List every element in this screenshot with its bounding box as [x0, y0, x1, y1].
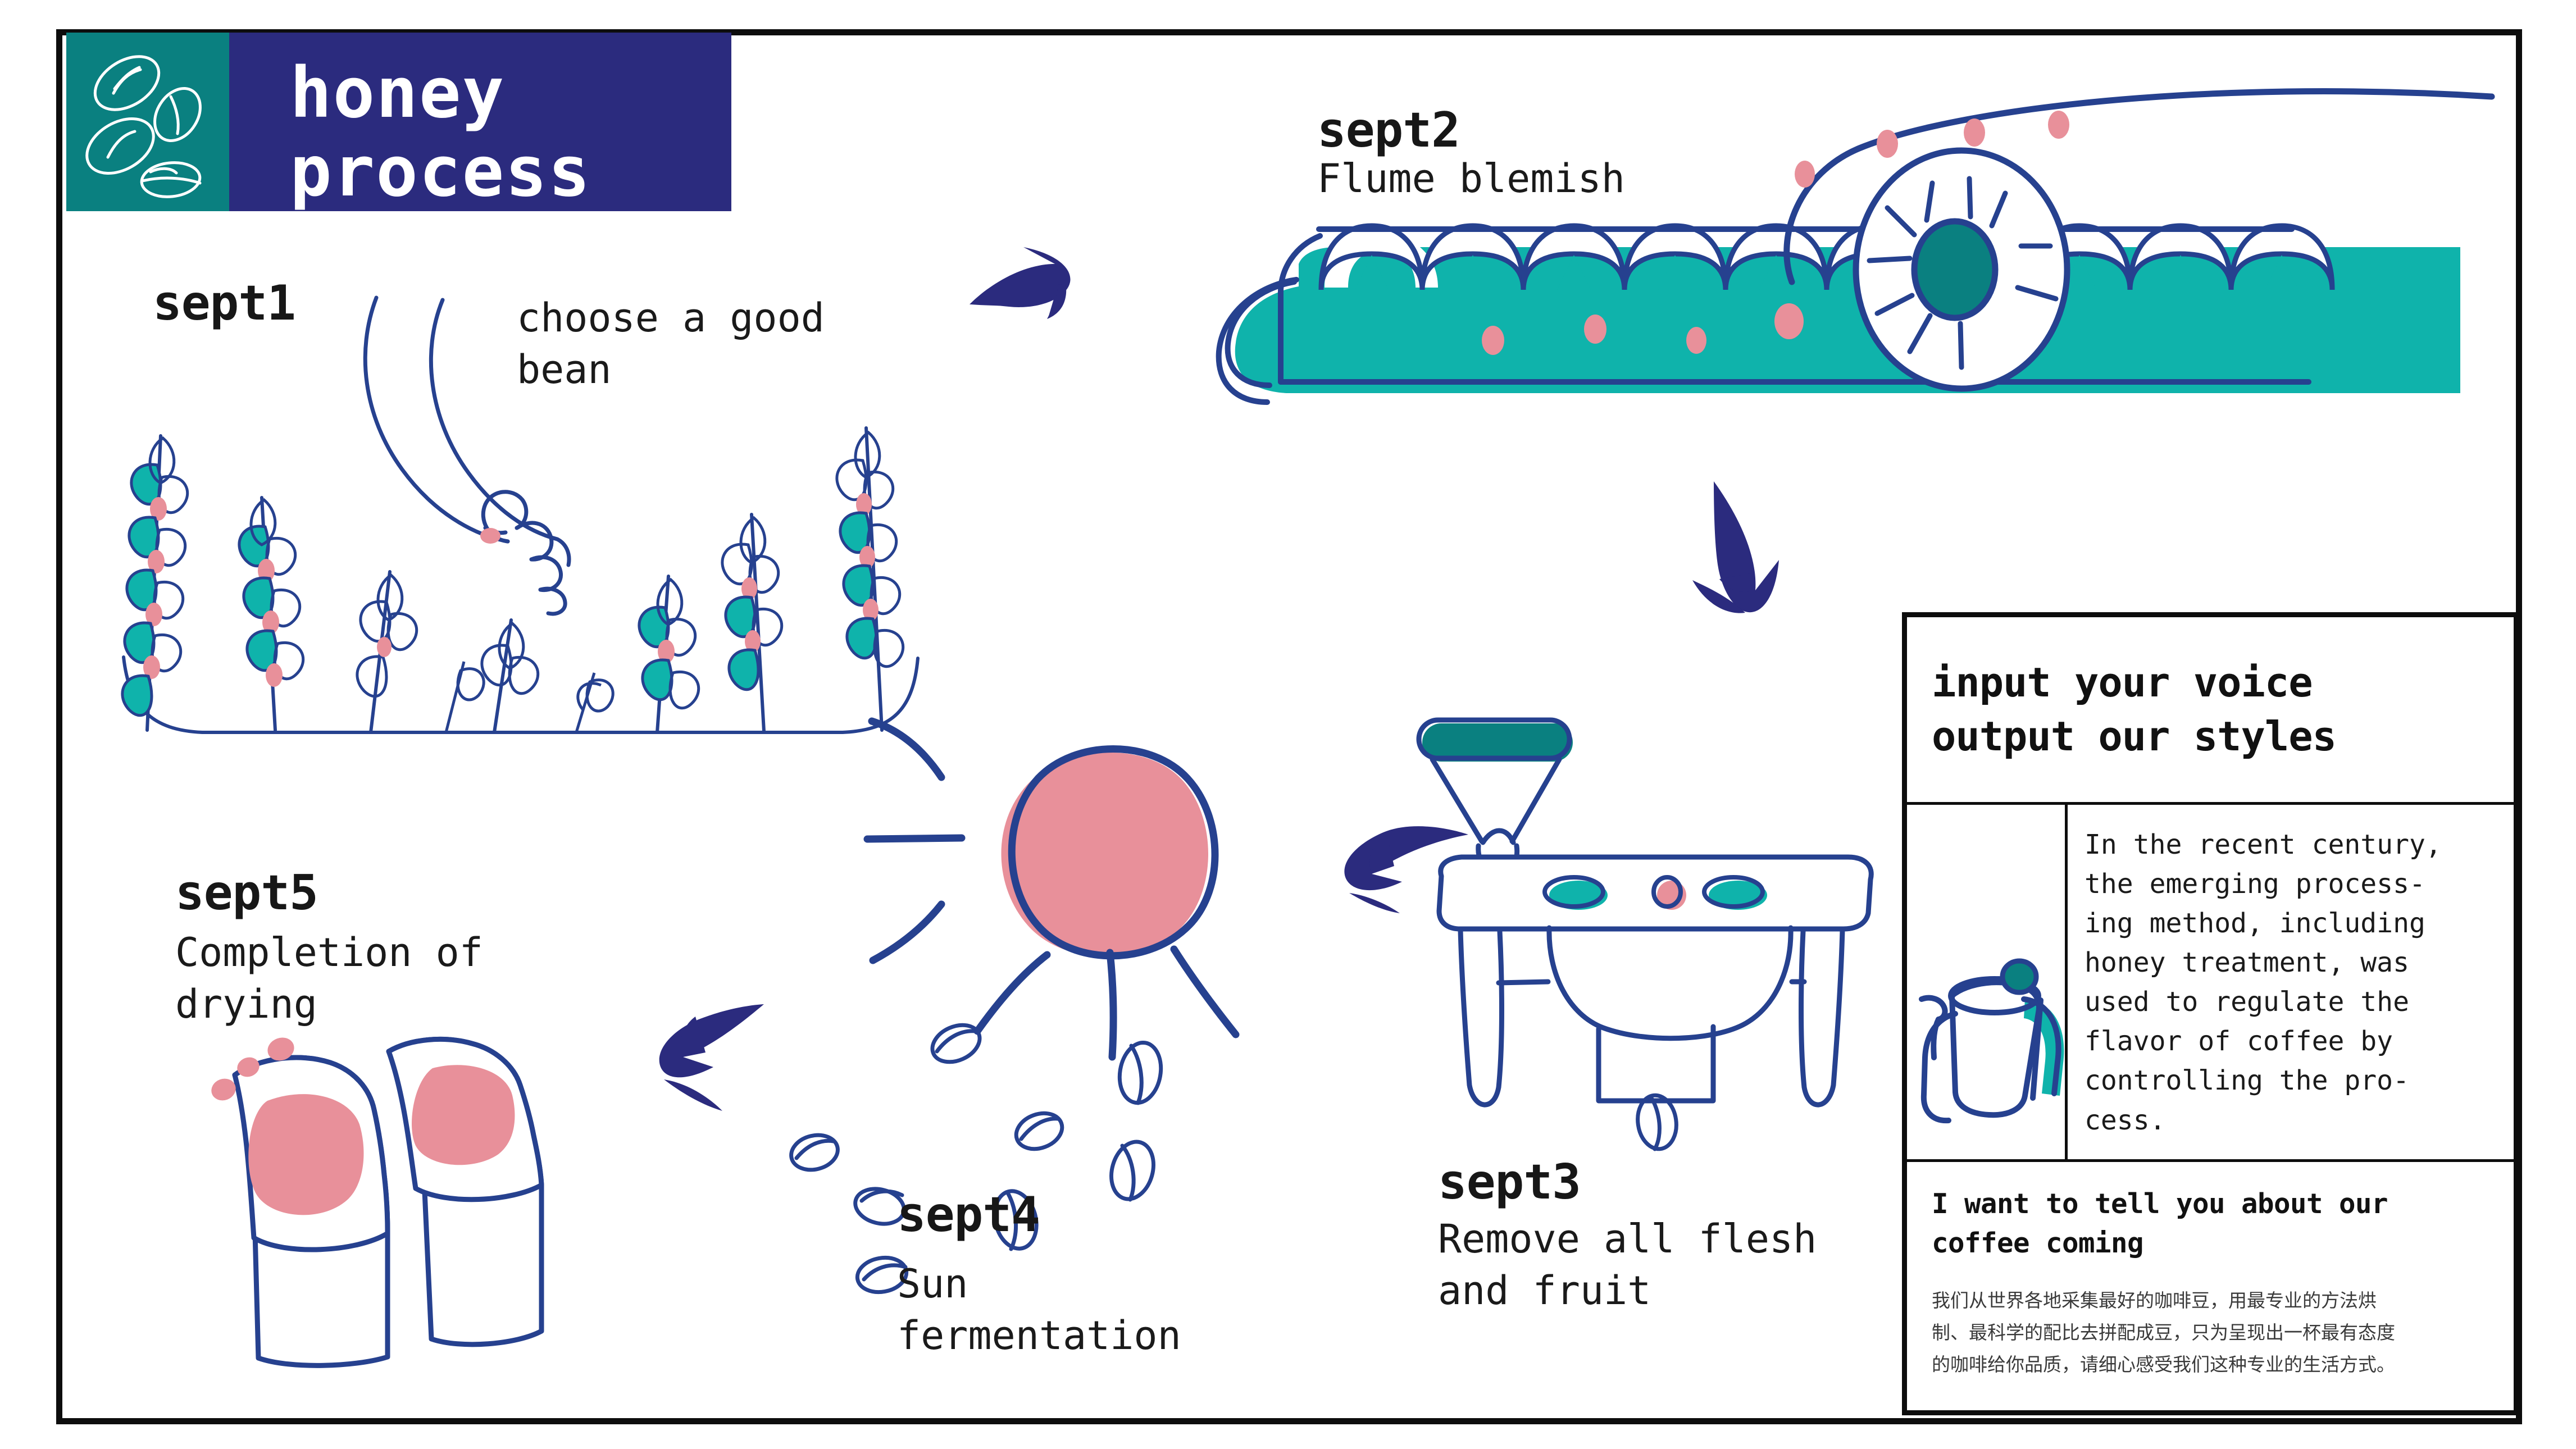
arrow-step4-to-step5 — [652, 994, 888, 1123]
infographic-canvas: honey process sept1 choose a good bean — [0, 0, 2576, 1449]
panel-body-text: In the recent century, the emerging proc… — [2085, 825, 2501, 1140]
logo-header: honey process — [66, 33, 731, 211]
panel-headline: input your voice output our styles — [1932, 656, 2514, 763]
arrow-step1-to-step2 — [955, 225, 1123, 365]
coffee-beans-icon — [66, 33, 229, 211]
panel-headline-block: input your voice output our styles — [1907, 617, 2514, 805]
poster-title: honey process — [290, 54, 591, 211]
step-label-sept5: sept5 — [175, 865, 318, 921]
step-label-sept3: sept3 — [1438, 1154, 1581, 1210]
coffee-kettle-icon — [1907, 805, 2068, 1159]
panel-footer-chinese-text: 我们从世界各地采集最好的咖啡豆，用最专业的方法烘 制、最科学的配比去拼配成豆，只… — [1932, 1285, 2491, 1380]
flume-channel-illustration — [1101, 67, 2494, 483]
panel-body-block: In the recent century, the emerging proc… — [2068, 805, 2514, 1159]
picking-hand-illustration — [348, 292, 640, 607]
step-desc-sept5: Completion of drying — [175, 927, 483, 1031]
info-panel: input your voice output our styles — [1902, 612, 2519, 1415]
pulping-machine-illustration — [1399, 708, 1904, 1151]
logo-title-block: honey process — [229, 33, 731, 211]
step-label-sept4: sept4 — [897, 1187, 1040, 1243]
step-label-sept1: sept1 — [153, 275, 295, 331]
panel-middle-block: In the recent century, the emerging proc… — [1907, 805, 2514, 1162]
arrow-step2-to-step3 — [1677, 475, 1823, 632]
step-desc-sept4: Sun fermentation — [897, 1258, 1181, 1362]
drying-sacks-illustration — [169, 1017, 618, 1365]
step-desc-sept3: Remove all flesh and fruit — [1438, 1213, 1817, 1317]
